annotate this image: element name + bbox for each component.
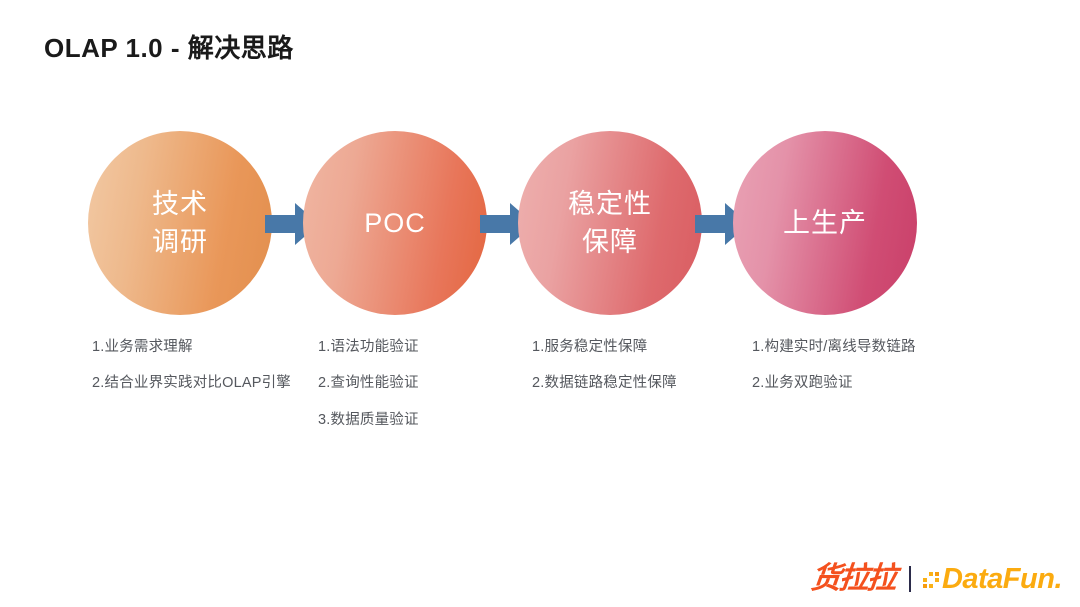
flow-node-label: 上生产 [783,204,867,242]
datafun-logo: DataFun. [923,565,1062,594]
detail-column-tech-research: 1.业务需求理解 2.结合业界实践对比OLAP引擎 [92,336,297,409]
list-item: 3.数据质量验证 [318,409,523,431]
list-item: 1.服务稳定性保障 [532,336,747,358]
list-item: 2.查询性能验证 [318,372,523,394]
page-title: OLAP 1.0 - 解决思路 [44,28,294,65]
datafun-wordmark: DataFun. [942,565,1062,594]
flow-node-tech-research[interactable]: 技术 调研 [88,131,272,315]
process-flow-diagram: 技术 调研 POC 稳定性 保障 上生产 [0,131,1080,321]
datafun-dots-icon [923,572,939,588]
flow-node-label: POC [364,204,426,242]
list-item: 1.业务需求理解 [92,336,297,358]
flow-node-label: 技术 调研 [152,185,208,262]
huolala-logo: 货拉拉 [809,564,896,594]
detail-column-stability: 1.服务稳定性保障 2.数据链路稳定性保障 [532,336,747,409]
list-item: 1.语法功能验证 [318,336,523,358]
list-item: 2.业务双跑验证 [752,372,992,394]
flow-node-production[interactable]: 上生产 [733,131,917,315]
detail-column-production: 1.构建实时/离线导数链路 2.业务双跑验证 [752,336,992,409]
footer-logo-group: 货拉拉 DataFun. [811,559,1062,599]
list-item: 2.数据链路稳定性保障 [532,372,747,394]
flow-node-label: 稳定性 保障 [568,185,652,262]
list-item: 1.构建实时/离线导数链路 [752,336,992,358]
flow-node-stability[interactable]: 稳定性 保障 [518,131,702,315]
list-item: 2.结合业界实践对比OLAP引擎 [92,372,297,394]
flow-node-poc[interactable]: POC [303,131,487,315]
detail-column-poc: 1.语法功能验证 2.查询性能验证 3.数据质量验证 [318,336,523,445]
logo-divider [909,566,911,592]
